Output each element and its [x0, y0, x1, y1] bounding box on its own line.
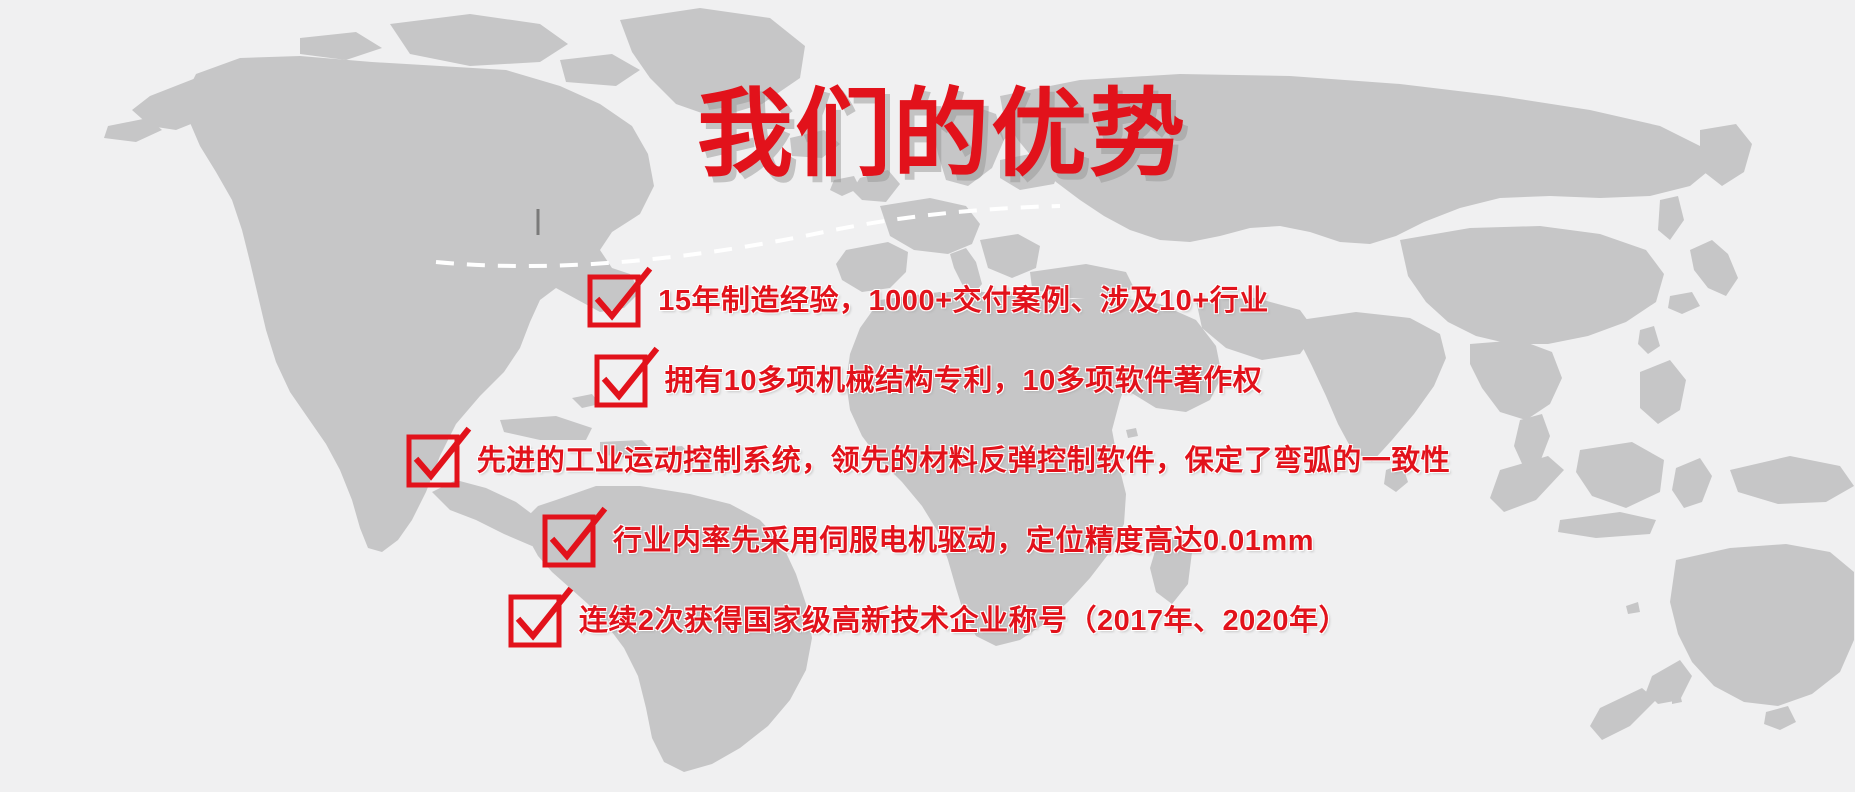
checkbox-checked-icon: [586, 273, 636, 323]
checkbox-checked-icon: [507, 593, 557, 643]
banner-content: 我们的优势 15年制造经验，1000+交付案例、涉及10+行业: [0, 0, 1855, 792]
advantage-item-4: 行业内率先采用伺服电机驱动，定位精度高达0.01mm: [0, 498, 1855, 578]
advantage-text: 先进的工业运动控制系统，领先的材料反弹控制软件，保定了弯弧的一致性: [477, 437, 1451, 479]
page-title-wrapper: 我们的优势: [697, 86, 1167, 184]
page-title: 我们的优势: [697, 86, 1167, 184]
advantages-banner: 我们的优势 15年制造经验，1000+交付案例、涉及10+行业: [0, 0, 1855, 792]
advantage-item-2: 拥有10多项机械结构专利，10多项软件著作权: [0, 338, 1855, 418]
advantage-text: 行业内率先采用伺服电机驱动，定位精度高达0.01mm: [613, 517, 1314, 559]
checkbox-checked-icon: [405, 433, 455, 483]
advantages-list: 15年制造经验，1000+交付案例、涉及10+行业 拥有10多项机械结构专利，1…: [0, 258, 1855, 658]
advantage-item-1: 15年制造经验，1000+交付案例、涉及10+行业: [0, 258, 1855, 338]
advantage-item-5: 连续2次获得国家级高新技术企业称号（2017年、2020年）: [0, 578, 1855, 658]
checkbox-checked-icon: [593, 353, 643, 403]
checkbox-checked-icon: [541, 513, 591, 563]
advantage-item-3: 先进的工业运动控制系统，领先的材料反弹控制软件，保定了弯弧的一致性: [0, 418, 1855, 498]
advantage-text: 15年制造经验，1000+交付案例、涉及10+行业: [658, 277, 1268, 319]
advantage-text: 连续2次获得国家级高新技术企业称号（2017年、2020年）: [579, 597, 1348, 639]
advantage-text: 拥有10多项机械结构专利，10多项软件著作权: [665, 357, 1263, 399]
